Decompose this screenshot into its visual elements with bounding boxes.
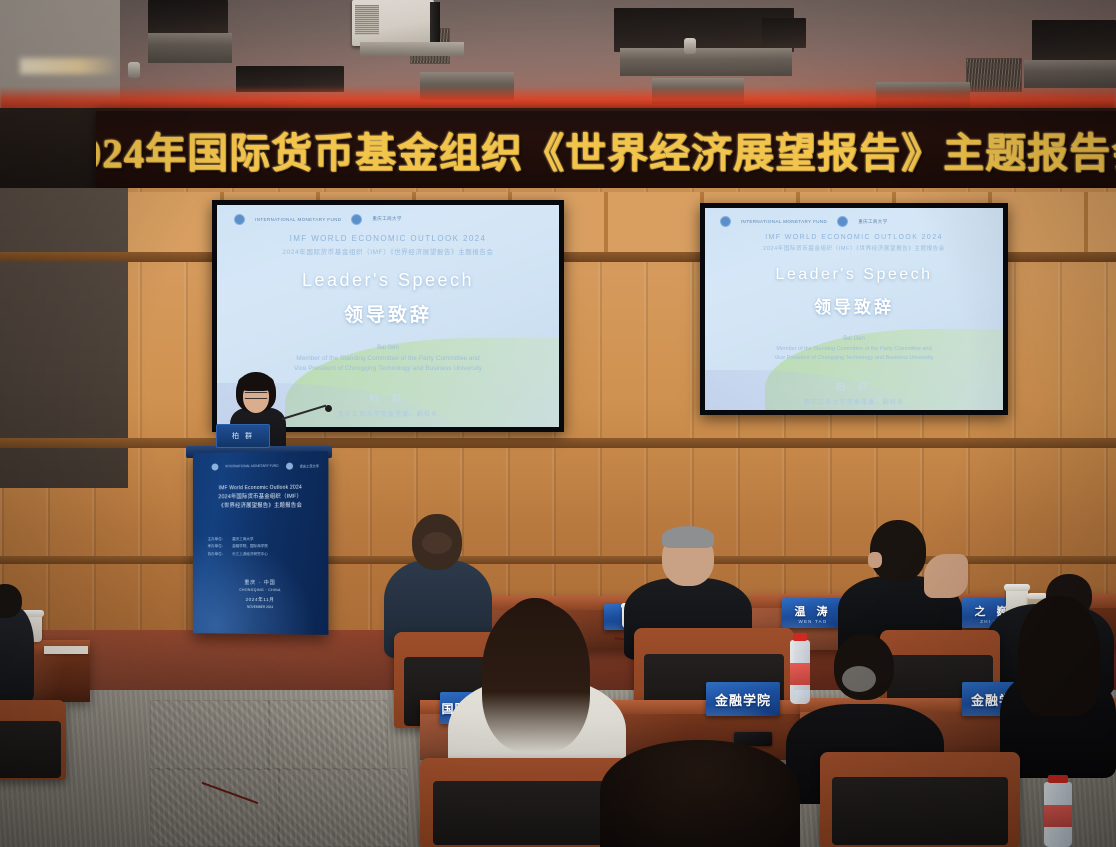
ceiling-duct	[148, 33, 232, 63]
attendee-raised-arm	[924, 554, 968, 598]
ceiling-projector	[352, 0, 434, 46]
slide-speaker-role-line1: Member of the Standing Committee of the …	[296, 354, 480, 364]
slide-speaker-name-en: Bai Gen	[377, 345, 399, 351]
imf-logo-text: INTERNATIONAL MONETARY FUND	[255, 217, 341, 222]
attendee-left-edge	[0, 584, 40, 704]
slide-eyebrow-en: IMF WORLD ECONOMIC OUTLOOK 2024	[290, 234, 487, 243]
attendee-hair	[662, 526, 714, 548]
speaker-glasses-icon	[244, 392, 268, 399]
chair-cushion	[0, 721, 61, 779]
banner-left-end	[0, 108, 98, 192]
podium-headline: IMF World Economic Outlook 2024 2024年国际货…	[205, 484, 316, 510]
slide-eyebrow-cn: 2024年国际货币基金组织（IMF）《世界经济展望报告》主题报告会	[282, 246, 493, 256]
banner-title-text: 2024年国际货币基金组织《世界经济展望报告》主题报告会	[96, 119, 1116, 179]
slide-speaker-name-cn: 柏 群	[369, 390, 407, 405]
slide-title-cn: 领导致辞	[344, 300, 432, 327]
paper-document	[44, 646, 88, 654]
slide-speaker-role-line1: Member of the Standing Committee of the …	[776, 345, 931, 354]
podium-logo-row: INTERNATIONAL MONETARY FUND 重庆工商大学	[212, 462, 319, 470]
ceiling-spotlight	[684, 38, 696, 54]
chair-cushion	[832, 777, 1008, 845]
slide-text-block: IMF WORLD ECONOMIC OUTLOOK 2024 2024年国际货…	[705, 234, 1003, 406]
ceiling-panel	[148, 0, 228, 36]
university-logo-text: 重庆工商大学	[372, 216, 401, 222]
university-logo-text: 重庆工商大学	[300, 463, 319, 468]
attendee-hair	[482, 602, 590, 752]
conference-hall-photo: 2024年国际货币基金组织《世界经济展望报告》主题报告会 INTERNATION…	[0, 0, 1116, 847]
slide-title-en: Leader's Speech	[302, 270, 474, 291]
university-logo-icon	[351, 214, 362, 225]
imf-logo-icon	[720, 216, 731, 227]
podium-footer: 重庆 · 中国 CHONGQING · CHINA 2024年11月 NOVEM…	[193, 579, 328, 610]
attendee-hair	[1018, 596, 1100, 716]
projection-screen-right: INTERNATIONAL MONETARY FUND 重庆工商大学 IMF W…	[700, 203, 1008, 415]
podium-headline-cn1: 2024年国际货币基金组织（IMF）	[205, 493, 316, 502]
bottle-cap	[1048, 775, 1068, 783]
university-logo-text: 重庆工商大学	[858, 219, 887, 225]
ceiling-panel	[762, 18, 806, 48]
event-banner: 2024年国际货币基金组织《世界经济展望报告》主题报告会	[96, 108, 1116, 190]
attendee-row3-front	[600, 740, 800, 847]
podium-nameplate: 柏 群	[216, 424, 270, 448]
chair-row3-left	[420, 758, 630, 847]
nameplate-wen-tao: 温 涛 WEN TAO	[782, 598, 844, 628]
podium-date: 2024年11月	[193, 597, 328, 604]
podium-organizer-row: 协办单位： 长江上游经济研究中心	[208, 551, 316, 559]
imf-logo-icon	[212, 463, 219, 470]
slide-logo-row: INTERNATIONAL MONETARY FUND 重庆工商大学	[234, 214, 402, 225]
carpet-tile	[268, 700, 388, 770]
podium-organizer-label: 承办单位：	[208, 543, 226, 551]
podium: INTERNATIONAL MONETARY FUND 重庆工商大学 IMF W…	[193, 451, 328, 635]
ceiling-duct	[620, 48, 792, 76]
imf-logo-text: INTERNATIONAL MONETARY FUND	[225, 464, 278, 469]
podium-place: 重庆 · 中国	[193, 579, 328, 587]
ceiling-duct	[1024, 60, 1116, 88]
podium-nameplate-text: 柏 群	[232, 431, 254, 441]
attendee-head	[870, 520, 926, 582]
slide-speaker-role-cn: 重庆工商大学党委常委、副校长	[804, 397, 905, 406]
podium-organizer-value: 金融学院、国际商学院	[232, 543, 268, 551]
carpet-tile	[150, 700, 270, 770]
speaker-hair-front	[238, 374, 274, 391]
projector-mount-arm	[430, 2, 440, 44]
attendee-ear	[868, 552, 882, 568]
wall-trim-band	[0, 438, 1116, 448]
slide-speaker-name-en: Bai Gen	[843, 336, 865, 342]
podium-organizer-list: 主办单位： 重庆工商大学 承办单位： 金融学院、国际商学院 协办单位： 长江上游…	[208, 536, 316, 559]
slide-eyebrow-cn: 2024年国际货币基金组织（IMF）《世界经济展望报告》主题报告会	[763, 244, 945, 252]
bottle-label	[1044, 805, 1072, 827]
projector-mount-plate	[360, 42, 464, 56]
podium-organizer-value: 重庆工商大学	[232, 536, 253, 544]
university-logo-icon	[286, 463, 293, 470]
microphone-head-icon	[325, 405, 332, 412]
ceiling-spotlight	[128, 62, 140, 78]
chair	[0, 700, 66, 780]
slide-logo-row: INTERNATIONAL MONETARY FUND 重庆工商大学	[720, 216, 888, 227]
podium-organizer-value: 长江上游经济研究中心	[232, 551, 268, 559]
slide-speaker-name-cn: 柏 群	[835, 378, 873, 393]
slide-title-en: Leader's Speech	[775, 266, 932, 284]
ceiling-panel	[1032, 20, 1116, 64]
attendee-hair-clip	[842, 666, 876, 692]
podium-headline-cn2: 《世界经济展望报告》主题报告会	[205, 502, 316, 511]
chair-row3-right	[820, 752, 1020, 847]
imf-logo-icon	[234, 214, 245, 225]
imf-logo-text: INTERNATIONAL MONETARY FUND	[741, 219, 827, 224]
university-logo-icon	[837, 216, 848, 227]
carpet-tile	[150, 768, 280, 847]
slide-speaker-role-line2: Vice President of Chongqing Technology a…	[294, 364, 482, 374]
slide-speaker-role-cn: 重庆工商大学党委常委、副校长	[338, 409, 439, 418]
nameplate-school-of-finance-a: 金融学院	[706, 682, 780, 716]
carpet-tile	[278, 768, 408, 847]
slide-title-cn: 领导致辞	[814, 293, 894, 318]
podium-place-en: CHONGQING · CHINA	[193, 588, 328, 593]
podium-organizer-label: 主办单位：	[208, 536, 226, 544]
podium-organizer-label: 协办单位：	[208, 551, 226, 559]
slide-eyebrow-en: IMF WORLD ECONOMIC OUTLOOK 2024	[765, 234, 943, 241]
podium-organizer-row: 承办单位： 金融学院、国际商学院	[208, 543, 316, 551]
attendee-row2-right	[1000, 596, 1116, 776]
attendee-hair-bun	[422, 532, 452, 554]
attendee-hair	[600, 740, 800, 847]
chair-cushion	[433, 781, 618, 845]
slide-content-right: INTERNATIONAL MONETARY FUND 重庆工商大学 IMF W…	[705, 208, 1003, 410]
slide-speaker-role-line2: Vice President of Chongqing Technology a…	[774, 354, 933, 363]
water-bottle-front	[1044, 782, 1072, 847]
attendee-torso	[0, 606, 34, 702]
podium-headline-en: IMF World Economic Outlook 2024	[205, 484, 316, 492]
podium-organizer-row: 主办单位： 重庆工商大学	[208, 536, 316, 544]
cove-light	[20, 58, 120, 74]
